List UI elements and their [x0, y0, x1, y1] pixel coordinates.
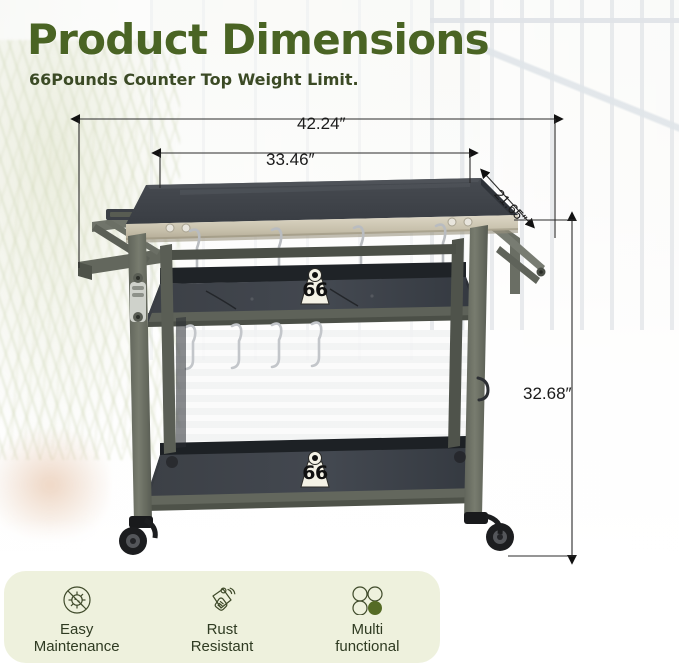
weight-badge-lower-shelf: 66	[295, 451, 335, 489]
dimension-label-overall-height: 32.68″	[523, 384, 572, 404]
no-bacteria-icon	[61, 583, 93, 617]
feature-label: Rust Resistant	[191, 621, 254, 655]
product-dimensions-infographic: Product Dimensions 66Pounds Counter Top …	[0, 0, 679, 668]
dimension-label-overall-width: 42.24″	[297, 114, 346, 134]
hand-wipe-icon	[206, 583, 238, 617]
weight-badge-value: 66	[295, 462, 335, 484]
feature-label-line2: functional	[335, 638, 399, 655]
feature-easy-maintenance: Easy Maintenance	[4, 571, 149, 655]
dimension-line-overall-width	[79, 119, 555, 268]
feature-label-line1: Rust	[207, 621, 238, 638]
weight-badge-middle-shelf: 66	[295, 268, 335, 306]
feature-label-line2: Resistant	[191, 638, 254, 655]
dimension-annotations	[0, 0, 679, 600]
dimension-line-counter-width	[160, 153, 470, 188]
feature-label: Easy Maintenance	[34, 621, 120, 655]
dimension-label-counter-width: 33.46″	[266, 150, 315, 170]
feature-label-line1: Easy	[60, 621, 93, 638]
weight-badge-value: 66	[295, 279, 335, 301]
feature-rust-resistant: Rust Resistant	[149, 571, 294, 655]
feature-label-line2: Maintenance	[34, 638, 120, 655]
feature-label: Multi functional	[335, 621, 399, 655]
feature-bar: Easy Maintenance Rust Resistant	[4, 571, 440, 663]
four-dots-icon	[350, 583, 384, 617]
feature-label-line1: Multi	[351, 621, 383, 638]
feature-multi-functional: Multi functional	[295, 571, 440, 655]
